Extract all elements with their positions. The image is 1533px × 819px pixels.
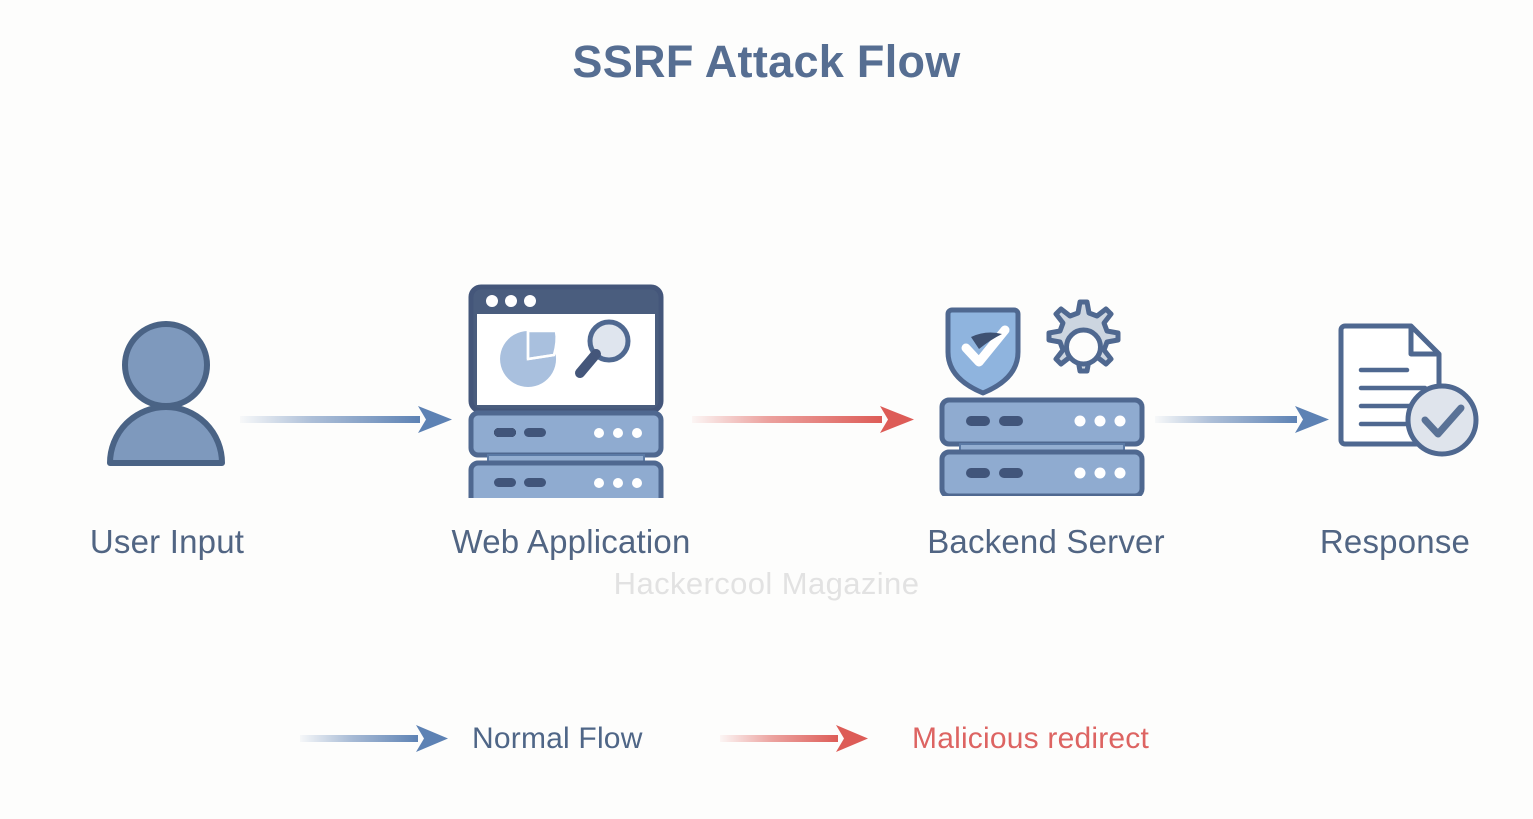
legend-label-malicious-redirect: Malicious redirect xyxy=(912,722,1149,756)
node-response[interactable] xyxy=(1337,320,1497,465)
server-bar-top xyxy=(942,400,1142,444)
legend-arrow-normal-icon xyxy=(300,719,450,759)
server-bar-bottom xyxy=(942,452,1142,496)
window-dot-1 xyxy=(486,295,498,307)
node-label-response: Response xyxy=(1245,523,1533,561)
flow-arrow-backend-to-response xyxy=(1155,396,1335,444)
shield-check-icon xyxy=(948,310,1018,393)
server-rack-shield-gear-icon xyxy=(938,296,1153,496)
document-check-icon xyxy=(1337,320,1497,465)
gear-icon xyxy=(1049,302,1118,371)
window-dot-3 xyxy=(524,295,536,307)
node-backend-server[interactable] xyxy=(938,296,1153,496)
legend-item-normal-flow[interactable]: Normal Flow xyxy=(300,719,643,759)
flow-arrow-webapp-to-backend xyxy=(692,396,922,444)
node-label-user-input: User Input xyxy=(17,523,317,561)
node-web-application[interactable] xyxy=(466,283,676,498)
legend-item-malicious-redirect[interactable]: Malicious redirect xyxy=(720,719,1149,759)
window-dot-2 xyxy=(505,295,517,307)
user-icon xyxy=(100,315,235,475)
check-badge-icon xyxy=(1408,386,1476,454)
legend-arrow-malicious-icon xyxy=(720,719,870,759)
watermark: Hackercool Magazine xyxy=(0,566,1533,602)
server-bar-top xyxy=(471,413,661,455)
node-user-input[interactable] xyxy=(100,315,235,475)
browser-window-server-icon xyxy=(466,283,676,498)
flow-arrow-user-to-webapp xyxy=(240,396,460,444)
page-title: SSRF Attack Flow xyxy=(0,36,1533,88)
server-bar-bottom xyxy=(471,463,661,498)
diagram-canvas: SSRF Attack Flow xyxy=(0,0,1533,819)
node-label-backend-server: Backend Server xyxy=(896,523,1196,561)
node-label-web-application: Web Application xyxy=(421,523,721,561)
legend-label-normal-flow: Normal Flow xyxy=(472,722,643,756)
legend: Normal Flow Malicious redirect xyxy=(0,705,1533,785)
